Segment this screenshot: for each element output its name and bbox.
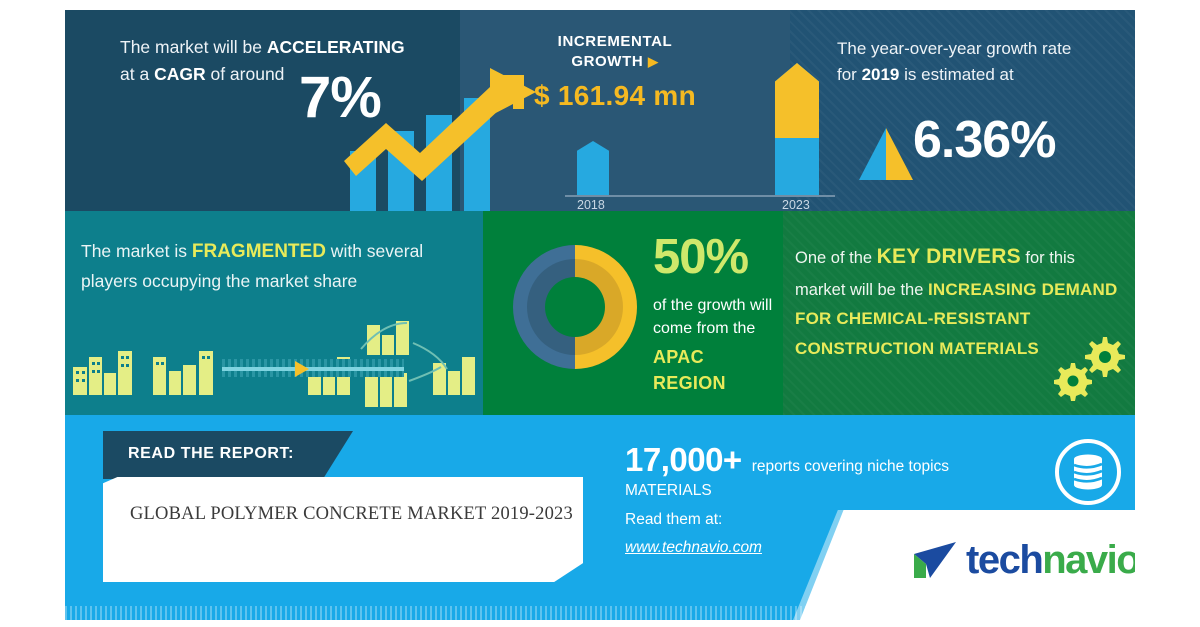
fragmentation-arrow-head-icon [295,361,309,377]
technavio-logo-tech: tech [966,538,1042,583]
yoy-value: 6.36% [913,110,1055,170]
yoy-line2-pre: for [837,65,862,84]
read-the-report-tag: READ THE REPORT: [103,431,353,479]
incremental-amount: $ 161.94 mn [495,80,735,112]
year-label-2023: 2023 [782,198,810,212]
bar-2018 [577,141,609,195]
apac-text: 50% of the growth will come from the APA… [653,233,781,397]
infographic-canvas: The market will be ACCELERATING at a CAG… [0,0,1200,627]
incremental-label-line1: INCREMENTAL [495,32,735,52]
yoy-line2-post: is estimated at [899,65,1013,84]
middle-band: The market is FRAGMENTED with several pl… [65,211,1135,415]
cagr-line2-post: of around [206,64,285,84]
materials-label: MATERIALS [625,482,1045,500]
read-the-report-label: READ THE REPORT: [128,445,294,463]
fragmented-text: The market is FRAGMENTED with several pl… [81,237,481,295]
report-title: GLOBAL POLYMER CONCRETE MARKET 2019-2023 [130,504,573,525]
top-band: The market will be ACCELERATING at a CAG… [65,10,1135,211]
technavio-logo: technavio [910,537,1135,583]
apac-value: 50% [653,233,781,282]
apac-line2: come from the [653,317,781,340]
drivers-pre: One of the [795,249,877,267]
database-icon [1053,437,1123,507]
cagr-line2-pre: at a [120,64,154,84]
bar-2023 [775,63,819,195]
incremental-label-line2: GROWTH ▶ [495,52,735,72]
footer-hatch-strip [65,606,1135,620]
technavio-logo-navio: navio [1042,538,1135,583]
incremental-axis [565,195,835,197]
apac-line1: of the growth will [653,294,781,317]
reports-count: 17,000+ [625,441,742,479]
fragmentation-arrow-line [222,367,404,371]
footer-band: READ THE REPORT: GLOBAL POLYMER CONCRETE… [65,415,1135,620]
report-title-card[interactable]: GLOBAL POLYMER CONCRETE MARKET 2019-2023 [103,477,583,582]
gears-icon [1051,331,1131,403]
infographic-frame: The market will be ACCELERATING at a CAG… [65,10,1135,620]
technavio-mark-icon [910,538,962,582]
year-label-2018: 2018 [577,198,605,212]
cagr-line1-pre: The market will be [120,37,267,57]
fragmented-panel: The market is FRAGMENTED with several pl… [65,211,483,415]
play-arrow-icon: ▶ [648,54,659,69]
yoy-line1: The year-over-year growth rate [837,39,1071,58]
incremental-growth-label: INCREMENTAL GROWTH ▶ $ 161.94 mn [495,32,735,112]
fragmented-strong: FRAGMENTED [192,241,326,262]
yoy-text: The year-over-year growth rate for 2019 … [837,36,1135,89]
apac-donut-chart [511,243,639,371]
cagr-line2-strong: CAGR [154,64,206,84]
apac-panel: 50% of the growth will come from the APA… [483,211,783,415]
cagr-line1-strong: ACCELERATING [267,37,405,57]
drivers-strong1: KEY DRIVERS [877,245,1021,268]
reports-caption: reports covering niche topics [752,458,949,476]
key-drivers-panel: One of the KEY DRIVERS for this market w… [783,211,1135,415]
apac-region: APAC REGION [653,344,781,396]
fragmented-pre: The market is [81,241,192,261]
yoy-year: 2019 [862,65,900,84]
